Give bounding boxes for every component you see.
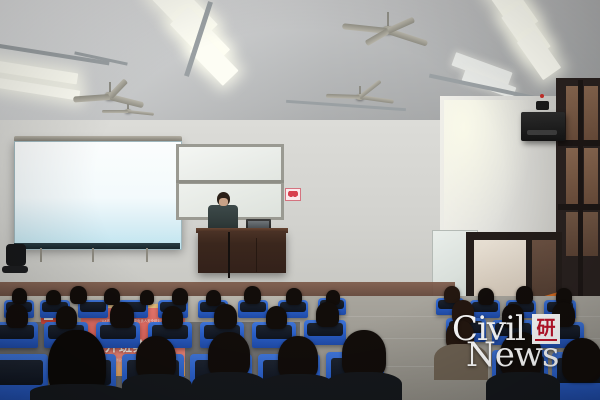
speaker-indicator-light — [540, 94, 544, 98]
chair-seat — [2, 266, 28, 273]
audience-head — [286, 288, 302, 305]
chair-backrest — [6, 244, 26, 266]
audience-head — [552, 302, 575, 327]
projection-screen: XX集团有限公司 "XX省建筑施工企业主要负责人安全培训"班 开班典礼 主办单位… — [14, 141, 182, 250]
audience-head — [172, 288, 188, 305]
screen-support — [40, 248, 42, 262]
brick-pane — [566, 86, 578, 140]
audience-shoulders — [192, 372, 266, 400]
window-mullion — [578, 80, 583, 306]
fan-blade — [102, 110, 128, 113]
audience-head — [56, 306, 77, 329]
audience-head — [266, 306, 287, 329]
audience-head — [162, 306, 183, 329]
brick-pane — [566, 148, 578, 204]
whiteboard-upper-panel — [179, 147, 281, 180]
lecture-hall-photo: XX集团有限公司 "XX省建筑施工企业主要负责人安全培训"班 开班典礼 主办单位… — [0, 0, 600, 400]
whiteboard-divider — [176, 180, 284, 183]
brick-pane — [584, 148, 598, 204]
wall-notice-sign — [285, 188, 301, 201]
projector-screen-weight-bar — [14, 243, 180, 249]
window-mullion — [558, 140, 600, 146]
lecture-podium — [198, 231, 286, 273]
audience-shoulders — [262, 374, 334, 400]
speaker-grill — [527, 130, 557, 135]
audience-head — [502, 304, 524, 328]
audience-head — [342, 330, 386, 378]
office-chair — [2, 244, 28, 284]
audience-head — [562, 338, 600, 382]
window-mullion — [558, 204, 600, 210]
audience-head — [206, 290, 221, 306]
audience-head — [316, 302, 339, 327]
audience-head — [110, 302, 134, 328]
audience-head — [244, 286, 261, 304]
podium-seam — [256, 238, 257, 272]
audience-shoulders — [30, 384, 126, 400]
screen-support — [92, 248, 94, 262]
audience-head — [6, 304, 28, 328]
brick-pane — [584, 86, 598, 140]
audience-shoulders — [434, 344, 488, 380]
floor-microphone-stand — [228, 232, 230, 278]
audience-head — [478, 288, 494, 305]
audience-head — [46, 290, 61, 305]
audience-head — [70, 286, 87, 304]
audience-shoulders — [326, 372, 402, 400]
audience-shoulders — [486, 372, 560, 400]
audience-head — [214, 304, 237, 329]
speaker-mount-bracket — [536, 101, 549, 110]
wall-speaker-icon — [521, 112, 565, 141]
audience-head — [140, 290, 154, 305]
presenter-face — [219, 198, 228, 206]
audience-head — [12, 288, 27, 304]
audience-head — [516, 286, 533, 304]
audience-shoulders — [122, 374, 192, 400]
screen-support — [146, 248, 148, 262]
